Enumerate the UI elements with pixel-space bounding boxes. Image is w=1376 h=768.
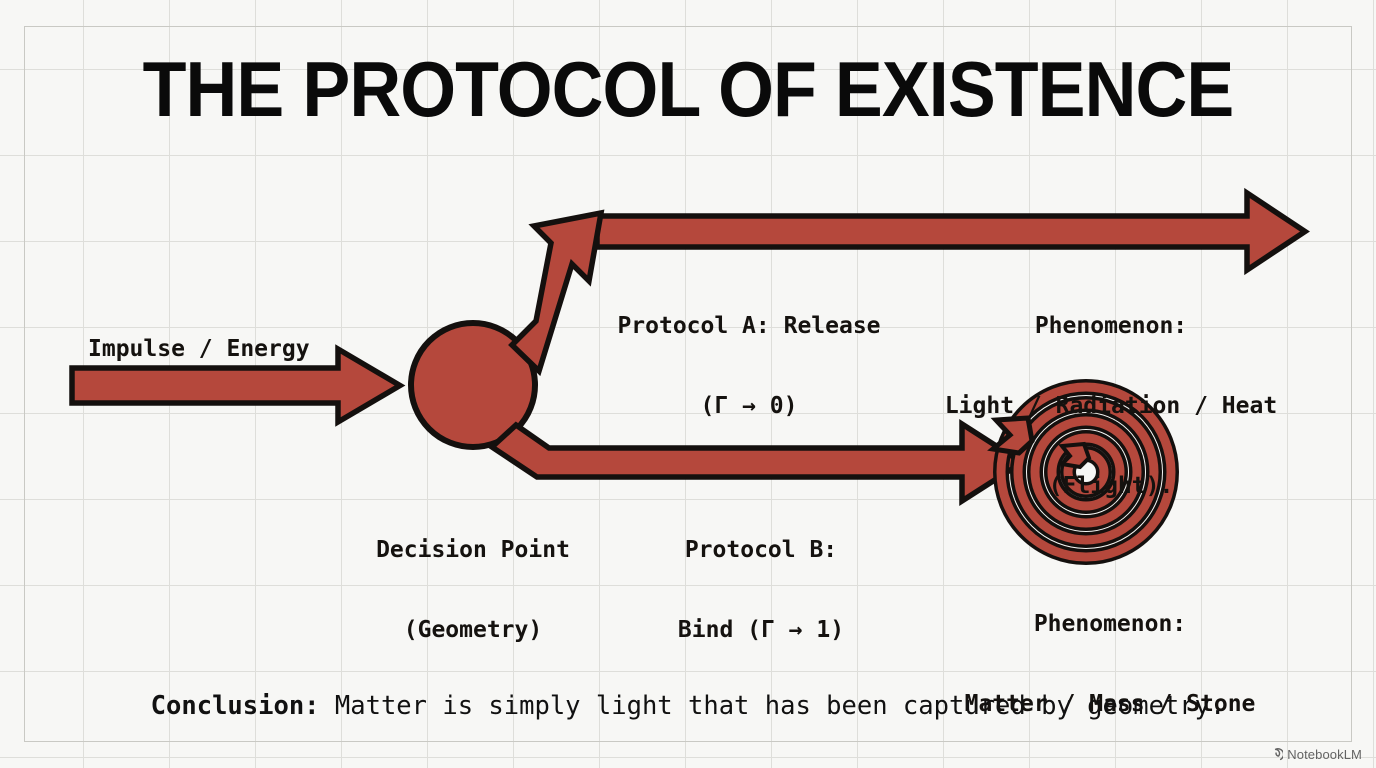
diagram-canvas: THE PROTOCOL OF EXISTENCE Impulse / Ener… xyxy=(0,0,1376,768)
label-phenomenon-flight: Phenomenon: Light / Radiation / Heat (Fl… xyxy=(906,260,1316,553)
label-decision-point: Decision Point (Geometry) xyxy=(340,484,606,697)
page-title: THE PROTOCOL OF EXISTENCE xyxy=(55,44,1321,135)
conclusion-text: Matter is simply light that has been cap… xyxy=(320,691,1226,721)
label-phenomenon-substance: Phenomenon: Matter / Mass / Stone (Subst… xyxy=(920,558,1300,768)
label-decision-point-line2: (Geometry) xyxy=(340,617,606,644)
conclusion-lead: Conclusion: xyxy=(151,691,320,721)
label-phenomenon-flight-line2: Light / Radiation / Heat xyxy=(906,393,1316,420)
label-protocol-a-line1: Protocol A: Release xyxy=(584,313,914,340)
conclusion-line: Conclusion: Matter is simply light that … xyxy=(0,692,1376,722)
label-phenomenon-substance-line1: Phenomenon: xyxy=(920,611,1300,638)
label-protocol-a-line2: (Γ → 0) xyxy=(584,393,914,420)
notebooklm-watermark-label: NotebookLM xyxy=(1287,747,1362,762)
label-phenomenon-flight-line3: (Flight). xyxy=(906,473,1316,500)
label-phenomenon-flight-line1: Phenomenon: xyxy=(906,313,1316,340)
label-decision-point-line1: Decision Point xyxy=(340,537,606,564)
label-impulse-energy: Impulse / Energy xyxy=(88,336,310,363)
label-protocol-a: Protocol A: Release (Γ → 0) xyxy=(584,260,914,473)
notebooklm-spiral-icon xyxy=(1268,747,1283,762)
notebooklm-watermark: NotebookLM xyxy=(1268,747,1362,762)
label-protocol-b-line2: Bind (Γ → 1) xyxy=(640,617,882,644)
label-protocol-b: Protocol B: Bind (Γ → 1) xyxy=(640,484,882,697)
label-protocol-b-line1: Protocol B: xyxy=(640,537,882,564)
